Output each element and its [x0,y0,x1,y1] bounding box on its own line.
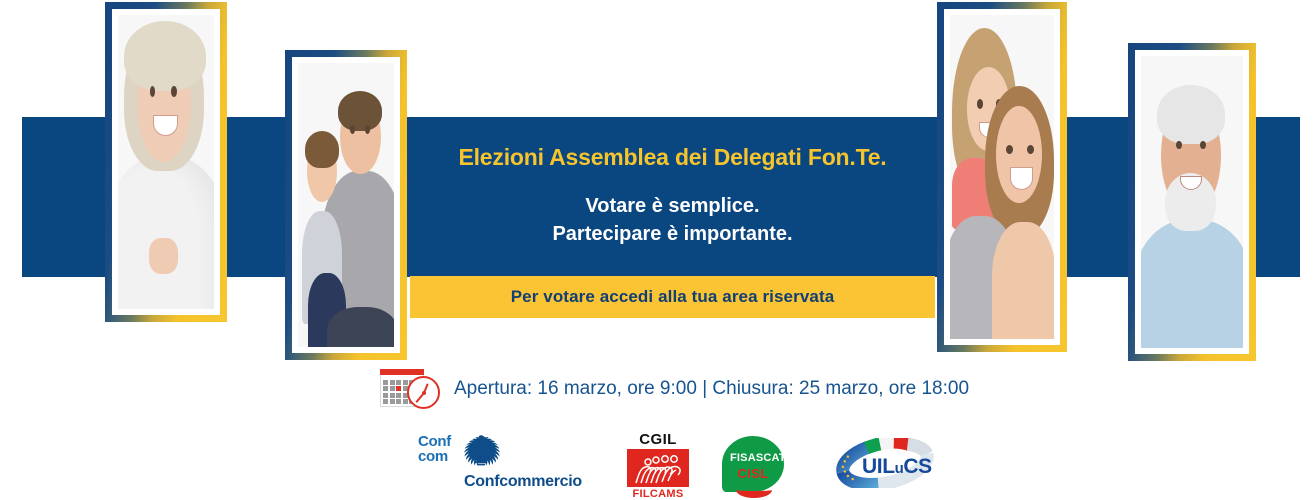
partner-logos: Conf com Confcommercio CGIL [0,432,1313,500]
confcommercio-name: Confcommercio [464,473,578,491]
uiltucs-end: CS [903,455,931,478]
photo-frame-father-and-son [285,50,407,360]
cgil-text: CGIL [624,432,692,447]
photo-smiling-senior-man [1141,56,1243,348]
logo-confcommercio[interactable]: Conf com Confcommercio [418,434,578,500]
photo-father-holding-son [298,63,394,347]
filcams-text: FILCAMS [624,488,692,500]
vote-access-button[interactable]: Per votare accedi alla tua area riservat… [410,276,935,318]
vote-access-button-label: Per votare accedi alla tua area riservat… [511,287,835,307]
fisascat-text: FISASCAT [730,452,776,464]
logo-fisascat-cisl[interactable]: FISASCAT CISL [722,436,788,498]
photo-frame-inner [944,9,1060,345]
clock-icon [407,376,440,409]
calendar-clock-icon [378,367,440,411]
logo-uiltucs[interactable]: UILuCS [826,438,944,494]
schedule-text: Apertura: 16 marzo, ore 9:00 | Chiusura:… [454,378,969,400]
uiltucs-wordmark: UILuCS [862,455,932,479]
photo-frame-inner [1135,50,1249,354]
confcommercio-word-line-2: com [418,449,451,464]
page-title: Elezioni Assemblea dei Delegati Fon.Te. [410,117,935,171]
banner-text-block: Elezioni Assemblea dei Delegati Fon.Te. … [410,117,935,249]
banner-subtitle-line-2: Partecipare è importante. [410,220,935,248]
photo-frame-mother-and-daughter [937,2,1067,352]
red-arc-underline [736,482,772,498]
photo-frame-inner [292,57,400,353]
filcams-emblem [627,449,689,487]
photo-smiling-senior-woman [118,15,214,309]
marching-workers-icon [632,451,684,485]
banner-subtitle-line-1: Votare è semplice. [585,195,759,217]
logo-cgil-filcams[interactable]: CGIL FILCAMS [624,432,692,500]
banner-subtitle: Votare è semplice. Partecipare è importa… [410,171,935,249]
uiltucs-main: UIL [862,455,895,478]
photo-mother-and-daughter [950,15,1054,339]
schedule-row: Apertura: 16 marzo, ore 9:00 | Chiusura:… [378,364,978,414]
photo-frame-inner [112,9,220,315]
cisl-text: CISL [730,466,776,481]
photo-frame-senior-woman [105,2,227,322]
confcommercio-word-line-1: Conf [418,434,451,449]
photo-frame-senior-man [1128,43,1256,361]
eagle-icon [460,433,502,467]
